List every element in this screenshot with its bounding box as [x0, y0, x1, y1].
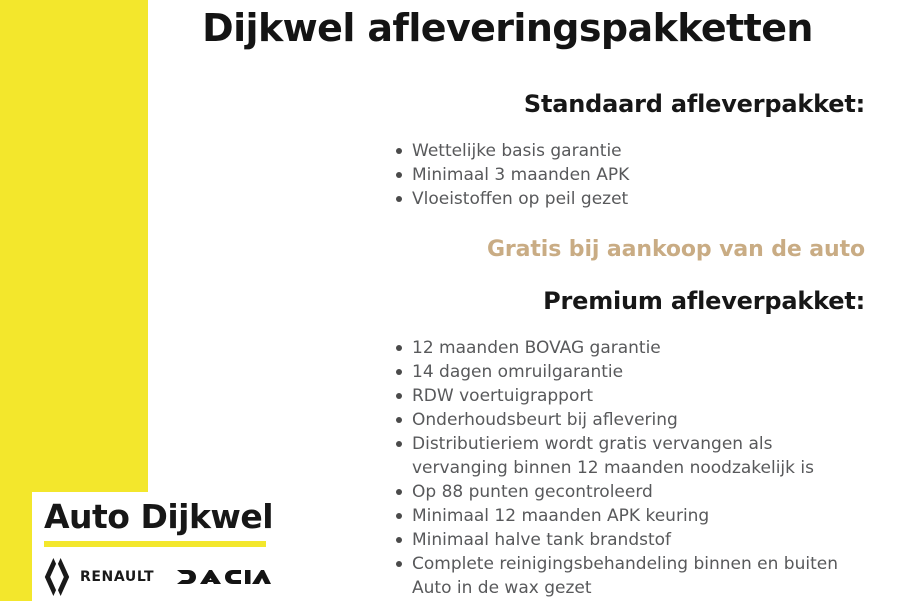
dacia-wordmark-icon — [176, 567, 272, 587]
list-item-label: Minimaal 12 maanden APK keuring — [412, 504, 844, 528]
list-item: 12 maanden BOVAG garantie — [150, 336, 865, 360]
list-item-label: Minimaal 3 maanden APK — [412, 163, 844, 187]
list-item-label: Distributieriem wordt gratis vervangen a… — [412, 432, 844, 480]
list-item: Wettelijke basis garantie — [150, 139, 865, 163]
bullet-icon — [396, 561, 402, 567]
brand-lockup-row: RENAULT — [32, 557, 272, 597]
list-item: Minimaal 3 maanden APK — [150, 163, 865, 187]
list-item: Onderhoudsbeurt bij aflevering — [150, 408, 865, 432]
list-item: Vloeistoffen op peil gezet — [150, 187, 865, 211]
promo-tagline: Gratis bij aankoop van de auto — [150, 236, 865, 264]
dacia-lockup — [176, 567, 272, 587]
list-item: 14 dagen omruilgarantie — [150, 360, 865, 384]
bullet-icon — [396, 148, 402, 154]
list-item-label: Minimaal halve tank brandstof — [412, 528, 844, 552]
list-item-label: Auto in de wax gezet — [412, 576, 844, 600]
list-item-label: Onderhoudsbeurt bij aflevering — [412, 408, 844, 432]
list-item-label: 12 maanden BOVAG garantie — [412, 336, 844, 360]
premium-package-heading: Premium afleverpakket: — [150, 286, 865, 316]
bullet-icon — [396, 417, 402, 423]
list-item-label: RDW voertuigrapport — [412, 384, 844, 408]
list-item-label: Wettelijke basis garantie — [412, 139, 844, 163]
standaard-package-list: Wettelijke basis garantie Minimaal 3 maa… — [150, 139, 865, 211]
bullet-icon — [396, 196, 402, 202]
bullet-icon — [396, 369, 402, 375]
dealer-logo-card: Auto Dijkwel RENAULT — [32, 492, 278, 601]
renault-wordmark: RENAULT — [80, 569, 154, 585]
bullet-icon — [396, 513, 402, 519]
list-item-label: Op 88 punten gecontroleerd — [412, 480, 844, 504]
renault-diamond-icon — [42, 557, 72, 597]
list-item-label: 14 dagen omruilgarantie — [412, 360, 844, 384]
list-item-label: Complete reinigingsbehandeling binnen en… — [412, 552, 844, 576]
delivery-packages-page: Dijkwel afleveringspakketten Standaard a… — [0, 0, 902, 601]
list-item-label: Vloeistoffen op peil gezet — [412, 187, 844, 211]
logo-underline-rule — [44, 541, 266, 547]
bullet-icon — [396, 441, 402, 447]
dealer-wordmark: Auto Dijkwel — [32, 498, 273, 536]
bullet-icon — [396, 489, 402, 495]
renault-lockup: RENAULT — [42, 557, 154, 597]
bullet-icon — [396, 393, 402, 399]
bullet-icon — [396, 345, 402, 351]
bullet-icon — [396, 537, 402, 543]
bullet-icon — [396, 172, 402, 178]
page-title: Dijkwel afleveringspakketten — [150, 6, 865, 50]
list-item: Distributieriem wordt gratis vervangen a… — [150, 432, 865, 480]
list-item: RDW voertuigrapport — [150, 384, 865, 408]
standaard-package-heading: Standaard afleverpakket: — [150, 89, 865, 119]
